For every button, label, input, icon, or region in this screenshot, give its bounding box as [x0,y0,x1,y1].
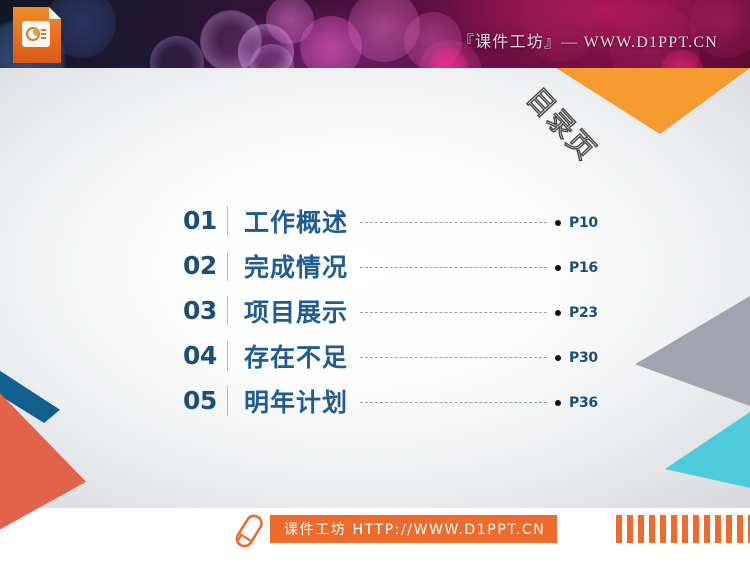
toc-leader-dot [555,355,561,361]
toc-item[interactable]: 01 工作概述 P10 [183,198,603,243]
toc-item-title: 存在不足 [244,338,348,374]
toc-item-number: 05 [183,386,227,415]
toc-leader-dot [555,310,561,316]
bokeh-circle [200,10,262,68]
footer-stripe [682,515,688,543]
toc-item[interactable]: 02 完成情况 P16 [183,243,603,288]
toc-item-page: P10 [569,215,603,231]
toc-item-page: P30 [569,350,603,366]
footer-stripe [671,515,677,543]
header-banner: 『课件工坊』— WWW.D1PPT.CN [0,0,750,68]
toc-item-title: 项目展示 [244,293,348,329]
footer-stripe [726,515,732,543]
toc-item[interactable]: 03 项目展示 P23 [183,288,603,333]
slide-canvas: 『课件工坊』— WWW.D1PPT.CN 目录页 [0,0,750,563]
footer-stripe [616,515,622,543]
toc-item-title: 工作概述 [244,203,348,239]
footer-stripe [627,515,633,543]
toc-leader-dot [555,400,561,406]
toc-item-number: 01 [183,206,227,235]
footer-stripe [649,515,655,543]
bokeh-circle [150,36,204,68]
toc-leader-dot [555,265,561,271]
footer-stripe [737,515,743,543]
pen-icon [228,510,268,554]
bokeh-circle [300,16,362,68]
toc-leader-line [360,402,547,404]
toc-item-title: 明年计划 [244,383,348,419]
toc-leader-line [360,222,547,224]
toc-leader-line [360,357,547,359]
bokeh-circle [250,44,294,68]
powerpoint-file-icon [8,4,66,66]
footer-stripe [660,515,666,543]
toc-item-divider [227,206,228,236]
toc-item-page: P23 [569,305,603,321]
footer-stripe [638,515,644,543]
bokeh-circle [348,0,420,62]
toc-item-page: P16 [569,260,603,276]
toc-item[interactable]: 04 存在不足 P30 [183,333,603,378]
toc-item-title: 完成情况 [244,248,348,284]
footer-stripe [704,515,710,543]
toc-leader-line [360,267,547,269]
table-of-contents: 01 工作概述 P10 02 完成情况 P16 03 项目展示 P23 04 [183,198,603,423]
footer-url-band: 课件工坊 HTTP://WWW.D1PPT.CN [270,515,557,543]
toc-leader-line [360,312,547,314]
footer-stripe [693,515,699,543]
toc-item-divider [227,251,228,281]
footer-stripes [616,515,750,543]
bokeh-circle [266,0,314,44]
toc-item-page: P36 [569,395,603,411]
bokeh-circle [660,50,704,68]
toc-item-divider [227,296,228,326]
toc-item-divider [227,386,228,416]
bokeh-circle [404,12,462,68]
toc-item-divider [227,341,228,371]
footer-stripe [715,515,721,543]
toc-item-number: 04 [183,341,227,370]
toc-leader-dot [555,220,561,226]
toc-item[interactable]: 05 明年计划 P36 [183,378,603,423]
footer-url-text: 课件工坊 HTTP://WWW.D1PPT.CN [284,519,545,539]
toc-item-number: 02 [183,251,227,280]
header-caption: 『课件工坊』— WWW.D1PPT.CN [458,28,718,52]
toc-item-number: 03 [183,296,227,325]
bokeh-circle [238,24,294,68]
